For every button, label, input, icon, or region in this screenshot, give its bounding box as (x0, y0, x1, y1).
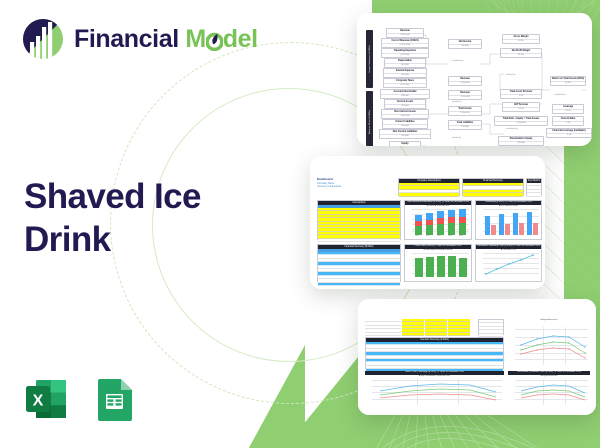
chart-legend: ■ High ■ Base ■ Low (508, 375, 590, 378)
flow-node-value: 423,000 (401, 105, 409, 108)
page-title: Shaved Ice Drink (24, 176, 274, 261)
brand-name-del: del (223, 25, 258, 53)
dashboard-caption: Currency in thousands (317, 185, 341, 188)
brand-name-m: M (185, 25, 205, 53)
profitability-grouped-bar[interactable]: Profitability ($ 000s) | 5 Years to Dece… (475, 200, 542, 240)
flow-node: Corporate Taxes (101,950) (383, 78, 427, 88)
flow-node-value: 1.29 (566, 122, 570, 125)
flow-node-value: (1,120,000) (400, 44, 411, 47)
flowchart-diagram: Income Statement ($ 000s) Balance Sheet … (364, 24, 586, 137)
flow-node: Current Ratio 1.29 (552, 116, 584, 126)
flow-node-value: (101,950) (401, 84, 410, 87)
axis-tick: 2022 (437, 235, 441, 237)
financial-dashboard-card[interactable]: Dashboard Company Name Currency in thous… (310, 156, 545, 289)
axis-tick: 2020 (415, 235, 419, 237)
bar-2022 (437, 211, 444, 235)
flow-node-value: 2,350,000 (460, 96, 469, 99)
flow-node-value: 2.13 (567, 134, 571, 137)
svg-text:X: X (33, 392, 44, 409)
circle-bar-chart-logo-icon (22, 18, 64, 60)
brand-name-financial: Financial (74, 25, 179, 53)
dashboard-title: Dashboard Company Name Currency in thous… (317, 178, 341, 188)
flow-node-value: 705,000 (517, 142, 525, 145)
bar-2023 (448, 210, 455, 235)
file-format-icons: X (22, 375, 138, 423)
flow-node: Non-Current Assets 1,081,000 (381, 109, 429, 119)
flow-node-value: 1,081,000 (400, 115, 409, 118)
cash-flow-bar[interactable]: Cash Flow ($ 000s) | 5 Years to December… (404, 244, 472, 282)
chart-plot-area (483, 253, 539, 277)
panel-scenario-summary[interactable]: Scenario Summary ($ 000s) (365, 337, 504, 369)
chart-legend: ■ High ■ Base ■ Low (508, 319, 590, 322)
panel-financial-summary-top[interactable]: Financial Summary (462, 178, 524, 196)
flow-node-value: 188,000 (401, 95, 409, 98)
flow-node: Current Assets 423,000 (384, 99, 426, 109)
flow-node-value: 1.56 (519, 95, 523, 98)
panel-assumptions-main[interactable]: Assumptions (317, 200, 401, 240)
bar-2024 (459, 209, 466, 235)
panel-key-metrics[interactable]: Key Metrics (526, 178, 542, 196)
flow-node: Operating Expenses (537,500) (381, 48, 429, 58)
flow-node: Return on Total Assets (ROA) 33.6% (550, 76, 586, 86)
flow-node-value: 1,504,000 (460, 112, 469, 115)
flow-node: Accounts Receivable 188,000 (380, 89, 430, 99)
net-income-scenario-chart[interactable]: Net Income | Scenario Case ($ 000s) | 5 … (508, 371, 590, 409)
chart-plot-area (515, 327, 588, 365)
chart-legend: ■ Product ■ Service ■ Other (405, 205, 471, 208)
brand-logo: Financial Mdel (22, 18, 258, 60)
flow-node: Gross Margin 52.3% (502, 34, 540, 44)
flow-node-value: 2,350,000 (460, 82, 469, 85)
flow-node: Current Liabilities 329,000 (382, 119, 428, 129)
flow-node: Revenue 2,350,000 (448, 76, 482, 86)
flow-operator: divided by (506, 74, 515, 76)
flow-node-label: Equity (390, 143, 420, 146)
panel-financial-summary-main[interactable]: Financial Summary ($ 000s) (317, 244, 401, 282)
flow-node: Cost of Revenue (COGS) (1,120,000) (381, 38, 429, 48)
flow-node-value: 799,000 (461, 126, 469, 129)
flow-node-value: 505,800 (461, 45, 469, 48)
flow-operator: multiplied by (452, 60, 464, 62)
flow-node: Revenue 2,350,000 (386, 28, 424, 38)
flow-node-value: 1,504,000 (516, 122, 525, 125)
flow-node-value: 329,000 (401, 125, 409, 128)
flow-node: Total Assets 1,504,000 (448, 106, 482, 116)
flow-node: Net Income 505,800 (448, 39, 482, 49)
reports-body: Scenario Summary ($ 000s) ■ High ■ Base … (358, 299, 596, 415)
dashboard-title-text: Dashboard (317, 177, 333, 181)
google-sheets-icon[interactable] (90, 375, 138, 423)
poster-canvas: Financial Mdel Shaved Ice Drink X (0, 0, 600, 448)
flow-node: Interest Expense (23,500) (383, 68, 427, 78)
flow-node-value: 470,000 (401, 135, 409, 138)
flow-node: Equity 705,000 (389, 141, 421, 146)
flow-node: Net Profit Margin 21.5% (500, 48, 542, 58)
sensitivity-reports-card[interactable]: Scenario Summary ($ 000s) ■ High ■ Base … (358, 299, 596, 415)
flow-operator: divided by (452, 101, 461, 103)
axis-tick: 2024 (459, 235, 463, 237)
flow-node: Total Debt + Equity = Total Assets 1,504… (494, 116, 548, 126)
chart-plot-area (515, 379, 588, 405)
flow-node: A/R Turnover 12.50 (502, 102, 540, 112)
chart-legend: ■ Cumulative Cash (476, 249, 541, 252)
flow-node: Total Liabilities 799,000 (448, 120, 482, 130)
page-title-line-1: Shaved Ice (24, 176, 274, 219)
flow-node-value: 2.13x (565, 110, 570, 113)
flow-node: Non-Current Liabilities 470,000 (379, 129, 431, 139)
flow-node-value: 33.6% (565, 82, 571, 85)
panel-title: Key Metrics (527, 179, 541, 183)
flow-node-value: (23,500) (401, 74, 409, 77)
chart-plot-area (483, 209, 539, 235)
flow-node: Revenue 2,350,000 (448, 90, 482, 100)
flow-operator: multiplied by (554, 94, 566, 96)
flow-node-value: 12.50 (518, 108, 523, 111)
flow-node: Depreciation (61,250) (384, 58, 426, 68)
flow-node: Financial Leverage (multiplier) 2.13 (546, 128, 592, 138)
panel-revenue-assumptions-extra[interactable] (478, 319, 504, 335)
revenue-breakdown-stacked-bar[interactable]: Total Revenue Breakdown ($ 000s) | 5 Yea… (404, 200, 472, 240)
cumulative-cash-line[interactable]: Cumulative Operating Cash ($ 000s) | 5 Y… (475, 244, 542, 282)
flow-node-value: 2,350,000 (400, 34, 409, 37)
axis-tick: 2021 (426, 235, 430, 237)
flow-node-value: (61,250) (401, 64, 409, 67)
brand-wordmark: Financial Mdel (74, 25, 258, 54)
flow-node: Total Asset Turnover 1.56 (500, 89, 542, 99)
flow-operator: divided by (452, 137, 461, 139)
flow-node: Shareholder's Equity 705,000 (498, 136, 544, 146)
axis-tick: 2023 (448, 235, 452, 237)
revenue-scenario-line-chart[interactable]: ■ High ■ Base ■ Low (508, 319, 590, 369)
bar-2021 (426, 213, 433, 235)
chart-legend: ■ EBITDA ■ Net Income (476, 205, 541, 208)
flow-node: Leverage 2.13x (552, 104, 584, 114)
chart-plot-area: 2020 2021 2022 2023 2024 (412, 209, 469, 235)
flow-node-value: 21.5% (518, 54, 524, 57)
chart-plot-area (372, 379, 502, 405)
excel-icon[interactable]: X (22, 375, 70, 423)
page-title-line-2: Drink (24, 219, 274, 262)
panel-assumptions-top[interactable]: Company Assumptions (398, 178, 460, 196)
dashboard-body: Dashboard Company Name Currency in thous… (310, 156, 545, 289)
flow-operator: multiplied by (506, 128, 518, 130)
flow-node-value: 52.3% (518, 40, 524, 43)
panel-revenue-assumptions[interactable] (365, 319, 473, 335)
flow-node-value: (537,500) (401, 54, 410, 57)
dupont-flowchart-card[interactable]: Income Statement ($ 000s) Balance Sheet … (357, 13, 592, 146)
bar-2020 (415, 215, 422, 235)
gross-profit-scenario-chart[interactable]: Gross Profit | Midrange ($ 000s) | 5 Yea… (365, 371, 504, 409)
chart-legend: ■ High Case ■ Base Case ■ Low Case (365, 375, 504, 378)
chart-legend: ■ Operating ■ Investing ■ Financing (405, 249, 471, 252)
leaf-drop-icon (206, 31, 223, 51)
chart-plot-area (412, 253, 469, 277)
